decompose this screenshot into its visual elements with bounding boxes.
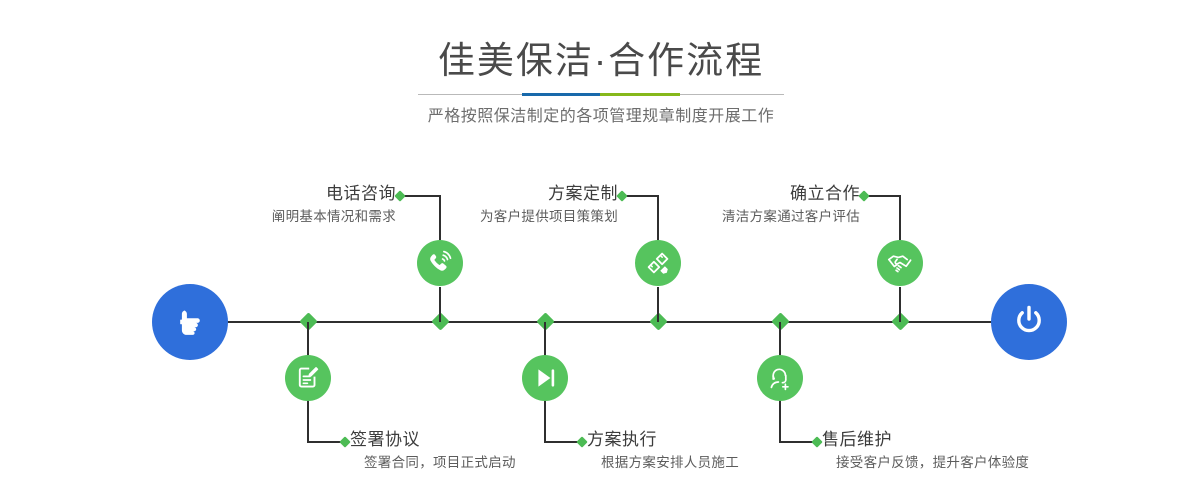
- step-desc-6: 接受客户反馈，提升客户体验度: [822, 452, 1182, 474]
- step-label-6: 售后维护 接受客户反馈，提升客户体验度: [822, 428, 1182, 474]
- divider-green-segment: [600, 93, 680, 96]
- power-icon: [1009, 300, 1049, 345]
- connector-stem-2: [307, 322, 309, 356]
- divider-blue-segment: [522, 93, 600, 96]
- step-icon-6: [757, 355, 803, 401]
- step-icon-5: [877, 240, 923, 286]
- step-icon-2: [285, 355, 331, 401]
- connector-stem-5-upper: [899, 195, 901, 240]
- step-icon-1: [417, 240, 463, 286]
- step-label-5: 确立合作 清洁方案通过客户评估: [540, 182, 860, 228]
- document-edit-icon: [294, 364, 322, 392]
- pointing-hand-icon: [170, 300, 210, 345]
- label-tip-5: [858, 190, 869, 201]
- page-title: 佳美保洁·合作流程: [0, 38, 1202, 84]
- step-desc-5: 清洁方案通过客户评估: [540, 206, 860, 228]
- phone-call-icon: [426, 249, 454, 277]
- connector-stem-4-lower: [544, 400, 546, 442]
- process-flow-infographic: 佳美保洁·合作流程 严格按照保洁制定的各项管理规章制度开展工作: [0, 0, 1202, 502]
- connector-elbow-6: [779, 441, 815, 443]
- connector-stem-6-lower: [779, 400, 781, 442]
- title-divider: [418, 93, 784, 96]
- step-icon-3: [635, 240, 681, 286]
- timeline-start-marker: [152, 284, 228, 360]
- connector-stem-6: [779, 322, 781, 356]
- connector-stem-5: [899, 287, 901, 322]
- connector-stem-2-lower: [307, 400, 309, 442]
- connector-stem-1: [439, 287, 441, 322]
- timeline-end-marker: [991, 284, 1067, 360]
- connector-elbow-2: [307, 441, 343, 443]
- play-next-icon: [531, 364, 559, 392]
- ruler-pencil-icon: [644, 249, 672, 277]
- header: 佳美保洁·合作流程 严格按照保洁制定的各项管理规章制度开展工作: [0, 0, 1202, 150]
- step-title-5: 确立合作: [540, 182, 860, 206]
- step-title-6: 售后维护: [822, 428, 1182, 452]
- connector-elbow-4: [544, 441, 580, 443]
- step-icon-4: [522, 355, 568, 401]
- connector-stem-4: [544, 322, 546, 356]
- handshake-icon: [886, 249, 914, 277]
- page-subtitle: 严格按照保洁制定的各项管理规章制度开展工作: [0, 106, 1202, 128]
- timeline-axis: [222, 321, 1000, 323]
- connector-stem-3: [657, 287, 659, 322]
- customer-service-add-icon: [766, 364, 794, 392]
- label-tip-2: [339, 436, 350, 447]
